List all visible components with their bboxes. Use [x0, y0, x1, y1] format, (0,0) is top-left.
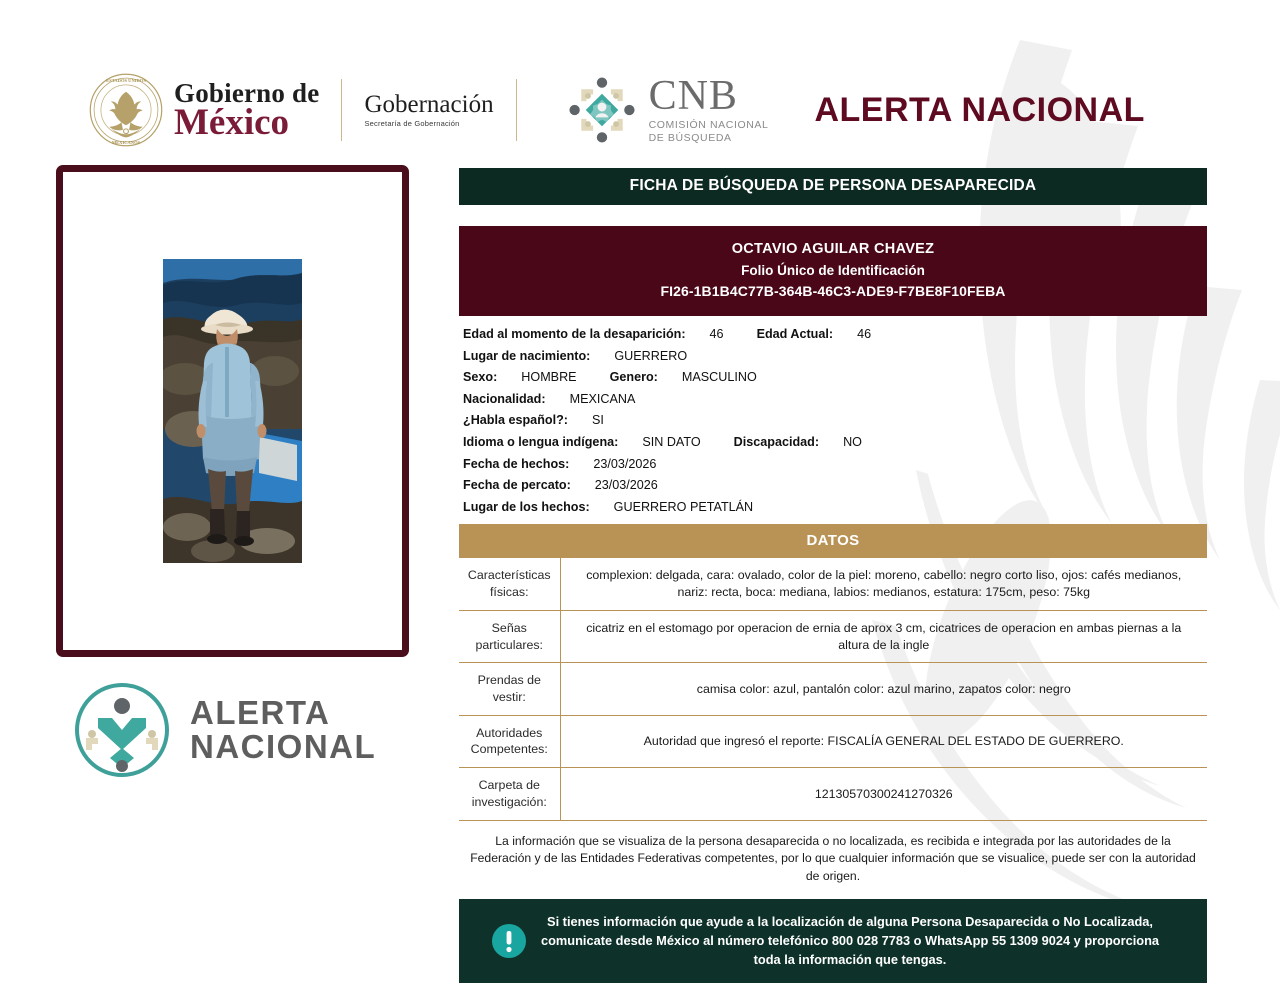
fecha-percato-label: Fecha de percato: — [463, 478, 571, 492]
alert-content: FICHA DE BÚSQUEDA DE PERSONA DESAPARECID… — [459, 168, 1207, 983]
edad-desaparicion-label: Edad al momento de la desaparición: — [463, 327, 686, 341]
gobierno-de-mexico-logo: ESTADOS UNIDOS MEXICANOS Gobierno de Méx… — [88, 72, 319, 148]
row-label: Carpeta de investigación: — [459, 768, 560, 820]
fact-edad: Edad al momento de la desaparición: 46 E… — [463, 328, 1207, 341]
gobierno-line2: México — [174, 104, 319, 141]
folio-value: FI26-1B1B4C77B-364B-46C3-ADE9-F7BE8F10FE… — [459, 281, 1207, 302]
row-label: Características físicas: — [459, 558, 560, 610]
fact-sexo-genero: Sexo: HOMBRE Genero: MASCULINO — [463, 371, 1207, 384]
fact-lugar-nacimiento: Lugar de nacimiento: GUERRERO — [463, 350, 1207, 363]
row-value: cicatriz en el estomago por operacion de… — [560, 610, 1207, 662]
table-row: Prendas de vestir: camisa color: azul, p… — [459, 663, 1207, 715]
cnb-name-line2: DE BÚSQUEDA — [649, 132, 732, 144]
svg-text:MEXICANOS: MEXICANOS — [112, 140, 141, 145]
person-identity-banner: OCTAVIO AGUILAR CHAVEZ Folio Único de Id… — [459, 226, 1207, 316]
table-row: Señas particulares: cicatriz en el estom… — [459, 610, 1207, 662]
alerta-nacional-title: ALERTA NACIONAL — [814, 91, 1144, 130]
fecha-hechos-value: 23/03/2026 — [593, 457, 656, 471]
alert-document: ESTADOS UNIDOS MEXICANOS Gobierno de Méx… — [0, 0, 1280, 990]
alerta-logo-line1: ALERTA — [190, 696, 376, 730]
person-name: OCTAVIO AGUILAR CHAVEZ — [459, 239, 1207, 261]
fact-habla-espanol: ¿Habla español?: SI — [463, 414, 1207, 427]
row-value: Autoridad que ingresó el reporte: FISCAL… — [560, 715, 1207, 767]
svg-text:ESTADOS UNIDOS: ESTADOS UNIDOS — [106, 78, 146, 83]
fecha-percato-value: 23/03/2026 — [595, 478, 658, 492]
cnb-logo: CNB COMISIÓN NACIONAL DE BÚSQUEDA — [565, 73, 769, 147]
edad-actual-value: 46 — [857, 327, 871, 341]
contact-banner: Si tienes información que ayude a la loc… — [459, 899, 1207, 984]
habla-espanol-label: ¿Habla español?: — [463, 413, 568, 427]
alerta-badge-icon — [72, 680, 172, 780]
alerta-logo-line2: NACIONAL — [190, 730, 376, 764]
genero-value: MASCULINO — [682, 370, 757, 384]
row-value: complexion: delgada, cara: ovalado, colo… — [560, 558, 1207, 610]
personal-facts: Edad al momento de la desaparición: 46 E… — [459, 328, 1207, 513]
edad-actual-label: Edad Actual: — [757, 327, 834, 341]
cnb-acronym: CNB — [649, 75, 769, 117]
datos-table: Características físicas: complexion: del… — [459, 558, 1207, 820]
table-row: Autoridades Competentes: Autoridad que i… — [459, 715, 1207, 767]
sexo-label: Sexo: — [463, 370, 497, 384]
edad-desaparicion-value: 46 — [710, 327, 724, 341]
nacionalidad-label: Nacionalidad: — [463, 392, 546, 406]
fact-fecha-percato: Fecha de percato: 23/03/2026 — [463, 479, 1207, 492]
cnb-name-line1: COMISIÓN NACIONAL — [649, 119, 769, 131]
row-value: 12130570300241270326 — [560, 768, 1207, 820]
cnb-flower-icon — [565, 73, 639, 147]
header-divider-2 — [516, 79, 517, 141]
lugar-hechos-value: GUERRERO PETATLÁN — [614, 500, 753, 514]
person-photo — [163, 259, 302, 563]
header-divider-1 — [341, 79, 342, 141]
fecha-hechos-label: Fecha de hechos: — [463, 457, 569, 471]
fact-lugar-hechos: Lugar de los hechos: GUERRERO PETATLÁN — [463, 501, 1207, 514]
fact-idioma-discapacidad: Idioma o lengua indígena: SIN DATO Disca… — [463, 436, 1207, 449]
lugar-nacimiento-value: GUERRERO — [614, 349, 687, 363]
discapacidad-value: NO — [843, 435, 862, 449]
ficha-title-banner: FICHA DE BÚSQUEDA DE PERSONA DESAPARECID… — [459, 168, 1207, 205]
gobernacion-subtitle: Secretaría de Gobernación — [364, 120, 493, 128]
table-row: Carpeta de investigación: 12130570300241… — [459, 768, 1207, 820]
gobernacion-title: Gobernación — [364, 92, 493, 117]
sexo-value: HOMBRE — [521, 370, 576, 384]
genero-label: Genero: — [610, 370, 658, 384]
fact-fecha-hechos: Fecha de hechos: 23/03/2026 — [463, 458, 1207, 471]
lugar-hechos-label: Lugar de los hechos: — [463, 500, 590, 514]
nacionalidad-value: MEXICANA — [570, 392, 636, 406]
row-value: camisa color: azul, pantalón color: azul… — [560, 663, 1207, 715]
fact-nacionalidad: Nacionalidad: MEXICANA — [463, 393, 1207, 406]
discapacidad-label: Discapacidad: — [734, 435, 819, 449]
row-label: Autoridades Competentes: — [459, 715, 560, 767]
disclaimer-text: La información que se visualiza de la pe… — [459, 833, 1207, 886]
table-row: Características físicas: complexion: del… — [459, 558, 1207, 610]
folio-label: Folio Único de Identificación — [459, 261, 1207, 281]
row-label: Señas particulares: — [459, 610, 560, 662]
photo-frame — [56, 165, 409, 657]
page-header: ESTADOS UNIDOS MEXICANOS Gobierno de Méx… — [0, 60, 1280, 160]
idioma-label: Idioma o lengua indígena: — [463, 435, 618, 449]
alerta-nacional-logo: ALERTA NACIONAL — [72, 676, 402, 784]
idioma-value: SIN DATO — [642, 435, 700, 449]
row-label: Prendas de vestir: — [459, 663, 560, 715]
exclamation-icon — [489, 921, 529, 961]
habla-espanol-value: SI — [592, 413, 604, 427]
contact-message: Si tienes información que ayude a la loc… — [537, 912, 1189, 970]
mexican-seal-icon: ESTADOS UNIDOS MEXICANOS — [88, 72, 164, 148]
lugar-nacimiento-label: Lugar de nacimiento: — [463, 349, 590, 363]
gobernacion-logo: Gobernación Secretaría de Gobernación — [364, 92, 493, 128]
datos-section-title: DATOS — [459, 524, 1207, 558]
